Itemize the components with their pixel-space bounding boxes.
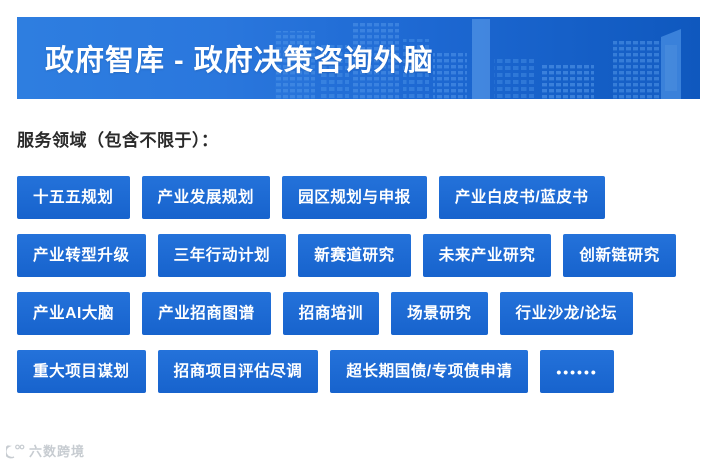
tag-row: 产业AI大脑 产业招商图谱 招商培训 场景研究 行业沙龙/论坛 [17, 292, 700, 335]
tag-row: 重大项目谋划 招商项目评估尽调 超长期国债/专项债申请 •••••• [17, 350, 700, 393]
service-tag[interactable]: 新赛道研究 [298, 234, 411, 277]
service-tag[interactable]: 行业沙龙/论坛 [500, 292, 634, 335]
service-areas-label: 服务领域（包含不限于）： [17, 126, 219, 151]
tag-row: 产业转型升级 三年行动计划 新赛道研究 未来产业研究 创新链研究 [17, 234, 700, 277]
header-banner: 政府智库 - 政府决策咨询外脑 [17, 17, 700, 99]
service-tag[interactable]: 未来产业研究 [423, 234, 552, 277]
service-tag[interactable]: 产业发展规划 [142, 176, 271, 219]
service-tag[interactable]: 园区规划与申报 [282, 176, 427, 219]
service-tag[interactable]: 重大项目谋划 [17, 350, 146, 393]
service-tag-more[interactable]: •••••• [540, 350, 613, 393]
banner-title: 政府智库 - 政府决策咨询外脑 [45, 37, 434, 79]
service-tag[interactable]: 招商培训 [283, 292, 379, 335]
service-tag[interactable]: 产业招商图谱 [142, 292, 271, 335]
tag-row: 十五五规划 产业发展规划 园区规划与申报 产业白皮书/蓝皮书 [17, 176, 700, 219]
six-data-logo-icon [6, 443, 25, 459]
service-tag[interactable]: 超长期国债/专项债申请 [330, 350, 528, 393]
service-tag[interactable]: 创新链研究 [563, 234, 676, 277]
service-tag[interactable]: 三年行动计划 [158, 234, 287, 277]
service-tag[interactable]: 产业AI大脑 [17, 292, 130, 335]
service-tag[interactable]: 十五五规划 [17, 176, 130, 219]
service-tag[interactable]: 招商项目评估尽调 [158, 350, 319, 393]
watermark-text: 六数跨境 [29, 441, 85, 460]
service-tag[interactable]: 产业白皮书/蓝皮书 [439, 176, 605, 219]
service-tag-grid: 十五五规划 产业发展规划 园区规划与申报 产业白皮书/蓝皮书 产业转型升级 三年… [17, 176, 700, 408]
service-tag[interactable]: 产业转型升级 [17, 234, 146, 277]
service-tag[interactable]: 场景研究 [391, 292, 487, 335]
watermark: 六数跨境 [6, 441, 85, 460]
